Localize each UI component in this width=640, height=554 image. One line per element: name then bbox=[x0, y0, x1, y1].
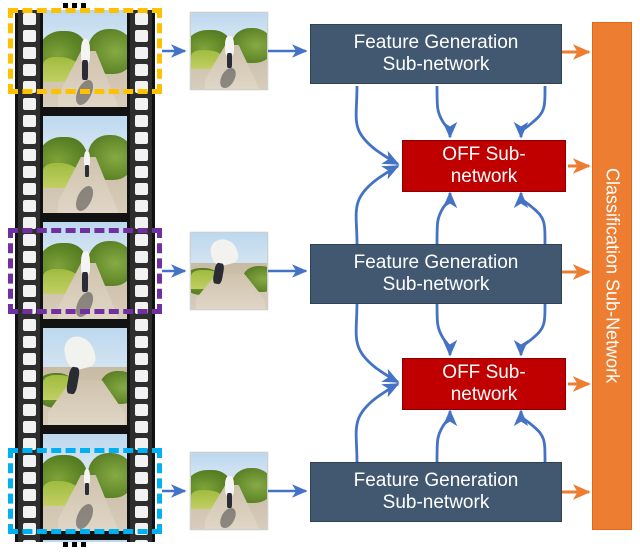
feature-generation-label-line2: Sub-network bbox=[383, 54, 490, 75]
feature-generation-block-2[interactable]: Feature Generation Sub-network bbox=[310, 244, 562, 304]
dot bbox=[63, 542, 68, 547]
dot bbox=[81, 542, 86, 547]
feature-generation-block-1[interactable]: Feature Generation Sub-network bbox=[310, 24, 562, 84]
feature-generation-label-line2: Sub-network bbox=[383, 492, 490, 513]
classification-label: Classification Sub-Network bbox=[602, 168, 623, 383]
feature-generation-label-line1: Feature Generation bbox=[354, 470, 519, 491]
off-block-1[interactable]: OFF Sub- network bbox=[402, 140, 566, 192]
feature-generation-block-3[interactable]: Feature Generation Sub-network bbox=[310, 462, 562, 522]
diagram-canvas: Feature Generation Sub-network OFF Sub- … bbox=[0, 0, 640, 554]
off-block-2[interactable]: OFF Sub- network bbox=[402, 358, 566, 410]
classification-subnetwork-block[interactable]: Classification Sub-Network bbox=[592, 22, 632, 530]
off-label-line2: network bbox=[451, 384, 518, 405]
off-label-line1: OFF Sub- bbox=[442, 144, 525, 165]
feature-generation-label-line2: Sub-network bbox=[383, 274, 490, 295]
ellipsis-bottom bbox=[63, 542, 86, 547]
off-label-line1: OFF Sub- bbox=[442, 362, 525, 383]
feature-generation-label-line1: Feature Generation bbox=[354, 252, 519, 273]
feature-generation-label-line1: Feature Generation bbox=[354, 32, 519, 53]
off-label-line2: network bbox=[451, 166, 518, 187]
dot bbox=[72, 542, 77, 547]
